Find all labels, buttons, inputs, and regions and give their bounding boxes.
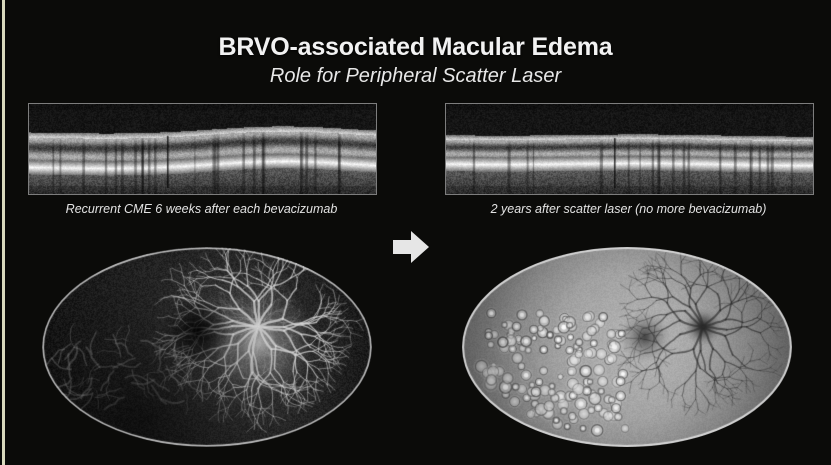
fluorescein-angiogram-before: [42, 247, 372, 447]
page-subtitle: Role for Peripheral Scatter Laser: [0, 65, 831, 88]
oct-after-image: [446, 104, 813, 194]
fundus-photo-after: [462, 247, 792, 447]
caption-after: 2 years after scatter laser (no more bev…: [445, 202, 812, 216]
slide-canvas: BRVO-associated Macular Edema Role for P…: [0, 0, 831, 465]
page-title: BRVO-associated Macular Edema: [0, 33, 831, 62]
caption-before: Recurrent CME 6 weeks after each bevaciz…: [28, 202, 375, 216]
oct-b-scan-after: [445, 103, 814, 195]
oct-before-image: [29, 104, 376, 194]
fundus-before-image: [42, 247, 372, 447]
oct-b-scan-before: [28, 103, 377, 195]
right-arrow-icon: [389, 228, 433, 266]
fundus-after-image: [462, 247, 792, 447]
